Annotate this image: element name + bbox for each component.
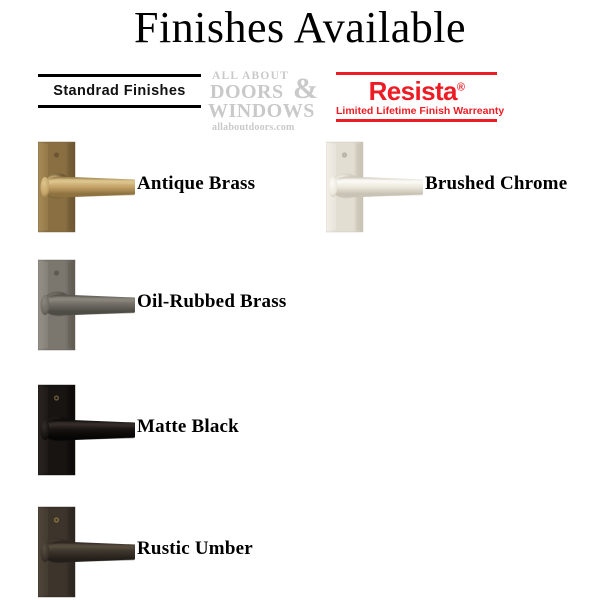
watermark-ampersand-icon: & [293,74,318,104]
finish-name-label: Brushed Chrome [425,173,567,195]
resista-wordmark-text: Resista [369,76,457,106]
resista-tagline: Limited Lifetime Finish Warreanty [336,105,497,119]
resista-rule-bottom [336,119,497,122]
header-row: Standrad Finishes ALL ABOUT DOORS WINDOW… [0,68,600,132]
allaboutdoors-watermark-logo: ALL ABOUT DOORS WINDOWS & allaboutdoors.… [206,70,326,132]
finish-name-label: Rustic Umber [137,538,253,560]
watermark-line-website: allaboutdoors.com [206,121,326,134]
heading-rule-bottom [38,105,201,108]
finish-name-label: Matte Black [137,416,239,438]
resista-logo: Resista® Limited Lifetime Finish Warrean… [336,72,497,122]
page-title: Finishes Available [0,2,600,54]
finish-name-label: Antique Brass [137,173,255,195]
finish-name-label: Oil-Rubbed Brass [137,291,286,313]
standard-finishes-label: Standrad Finishes [38,77,201,105]
standard-finishes-heading: Standrad Finishes [38,74,201,108]
registered-trademark-icon: ® [457,81,465,93]
resista-wordmark: Resista® [336,75,497,105]
